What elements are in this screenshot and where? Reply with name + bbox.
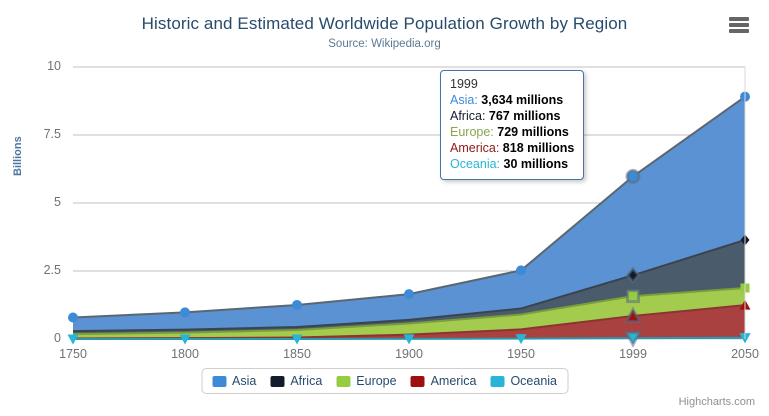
y-axis-title: Billions: [12, 136, 24, 176]
legend-label: Africa: [290, 374, 322, 388]
point-marker-circle[interactable]: [68, 312, 78, 322]
menu-bar-3: [729, 29, 749, 33]
y-axis-tick-label: 10: [0, 59, 61, 73]
y-axis-tick-label: 7.5: [0, 127, 61, 141]
point-marker-square[interactable]: [628, 291, 639, 302]
credits-label: Highcharts.com: [679, 396, 755, 408]
legend-swatch: [490, 376, 504, 387]
highcharts-container: Historic and Estimated Worldwide Populat…: [0, 0, 769, 416]
x-axis-tick-label: 1950: [481, 347, 561, 361]
legend-label: Asia: [232, 374, 256, 388]
y-axis-tick-label: 5: [0, 195, 61, 209]
x-axis-tick-label: 1850: [257, 347, 337, 361]
point-marker-circle[interactable]: [516, 265, 526, 275]
y-axis-tick-label: 0: [0, 331, 61, 345]
point-marker-circle[interactable]: [292, 300, 302, 310]
point-marker-circle[interactable]: [180, 307, 190, 317]
hamburger-menu-icon[interactable]: [729, 17, 749, 33]
chart-title: Historic and Estimated Worldwide Populat…: [0, 14, 769, 34]
x-axis-tick-label: 1750: [33, 347, 113, 361]
legend-item-america[interactable]: America: [411, 374, 477, 388]
legend-label: America: [431, 374, 477, 388]
legend-swatch: [411, 376, 425, 387]
legend-label: Oceania: [510, 374, 557, 388]
y-axis-tick-label: 2.5: [0, 263, 61, 277]
point-marker-triangle-down[interactable]: [627, 333, 640, 345]
point-marker-circle[interactable]: [404, 289, 414, 299]
x-axis-tick-label: 1999: [593, 347, 673, 361]
legend-item-africa[interactable]: Africa: [270, 374, 322, 388]
x-axis-tick-label: 2050: [705, 347, 769, 361]
menu-bar-1: [729, 17, 749, 21]
legend-item-asia[interactable]: Asia: [212, 374, 256, 388]
x-axis-tick-label: 1800: [145, 347, 225, 361]
legend-swatch: [270, 376, 284, 387]
legend-swatch: [212, 376, 226, 387]
chart-subtitle: Source: Wikipedia.org: [0, 38, 769, 50]
legend-item-oceania[interactable]: Oceania: [490, 374, 557, 388]
chart-legend[interactable]: AsiaAfricaEuropeAmericaOceania: [201, 368, 568, 394]
legend-label: Europe: [356, 374, 396, 388]
point-marker-circle[interactable]: [627, 170, 639, 182]
legend-item-europe[interactable]: Europe: [336, 374, 396, 388]
x-axis-tick-label: 1900: [369, 347, 449, 361]
legend-swatch: [336, 376, 350, 387]
menu-bar-2: [729, 23, 749, 27]
